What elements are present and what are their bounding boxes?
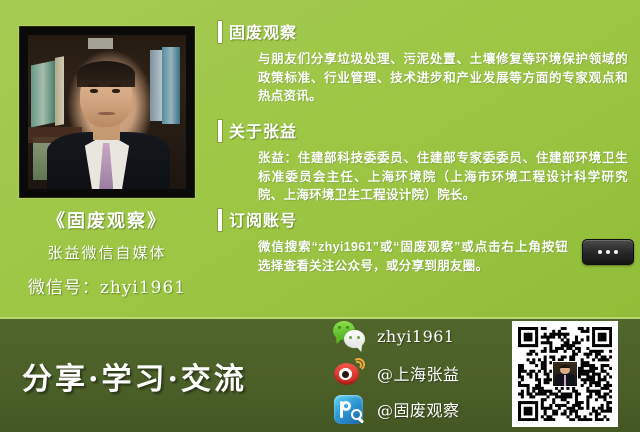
background-book xyxy=(55,56,64,125)
more-options-button[interactable] xyxy=(582,239,634,265)
section-header: 关于张益 xyxy=(214,119,640,145)
person-eye xyxy=(112,89,120,93)
section-body-text: 张益：住建部科技委委员、住建部专家委委员、住建部环境卫生标准委员会主任、上海环境… xyxy=(258,149,628,205)
person-mouth xyxy=(98,112,115,115)
wechat-id-line: 微信号：zhyi1961 xyxy=(0,273,214,298)
social-label: @上海张益 xyxy=(377,361,460,385)
social-row-wechat[interactable]: zhyi1961 xyxy=(332,319,455,353)
background-book xyxy=(162,47,179,124)
portrait-photo-frame xyxy=(19,26,195,198)
top-content-area: 《固废观察》 张益微信自媒体 微信号：zhyi1961 固废观察 与朋友们分享垃… xyxy=(0,0,640,317)
section-heading: 固废观察 xyxy=(229,19,297,43)
section-accent-bar xyxy=(218,21,222,43)
section-body-text: 与朋友们分享垃圾处理、污泥处置、土壤修复等环境保护领域的政策标准、行业管理、技术… xyxy=(258,50,628,106)
person-hair xyxy=(77,61,135,87)
dot-icon xyxy=(598,250,602,254)
section-body-text: 微信搜索“zhyi1961”或“固废观察”或点击右上角按钮选择查看关注公众号，或… xyxy=(258,238,568,275)
column-subtitle: 张益微信自媒体 xyxy=(0,242,214,263)
background-book xyxy=(150,50,163,121)
dot-icon xyxy=(606,250,610,254)
social-row-weibo[interactable]: @上海张益 xyxy=(332,356,460,390)
info-sections-column: 固废观察 与朋友们分享垃圾处理、污泥处置、土壤修复等环境保护领域的政策标准、行业… xyxy=(214,0,640,317)
portrait-photo xyxy=(28,35,186,189)
section-accent-bar xyxy=(218,209,222,231)
section-about-column: 固废观察 与朋友们分享垃圾处理、污泥处置、土壤修复等环境保护领域的政策标准、行业… xyxy=(214,20,640,106)
section-header: 订阅账号 xyxy=(214,208,640,234)
banner-slogan: 分享·学习·交流 xyxy=(22,354,247,398)
section-accent-bar xyxy=(218,120,222,142)
qr-code[interactable] xyxy=(512,321,618,427)
column-title: 《固废观察》 xyxy=(0,207,214,233)
social-label: zhyi1961 xyxy=(377,327,455,346)
profile-column: 《固废观察》 张益微信自媒体 微信号：zhyi1961 xyxy=(0,0,214,317)
qr-center-photo xyxy=(552,361,578,387)
promo-card: 《固废观察》 张益微信自媒体 微信号：zhyi1961 固废观察 与朋友们分享垃… xyxy=(0,0,640,432)
weibo-icon xyxy=(332,356,366,390)
section-header: 固废观察 xyxy=(214,20,640,46)
background-book xyxy=(31,60,55,127)
section-about-person: 关于张益 张益：住建部科技委委员、住建部专家委委员、住建部环境卫生标准委员会主任… xyxy=(214,119,640,205)
section-subscribe: 订阅账号 微信搜索“zhyi1961”或“固废观察”或点击右上角按钮选择查看关注… xyxy=(214,208,640,275)
social-row-search[interactable]: @固废观察 xyxy=(332,392,460,426)
background-light xyxy=(88,38,113,49)
qr-code-image xyxy=(518,327,612,421)
social-label: @固废观察 xyxy=(377,397,460,421)
person-eye xyxy=(90,89,98,93)
section-heading: 订阅账号 xyxy=(229,207,297,231)
wechat-icon xyxy=(332,319,366,353)
dot-icon xyxy=(614,250,618,254)
person-eyebrow xyxy=(88,84,99,87)
person-eyebrow xyxy=(110,84,121,87)
search-icon xyxy=(332,392,366,426)
section-heading: 关于张益 xyxy=(229,118,297,142)
